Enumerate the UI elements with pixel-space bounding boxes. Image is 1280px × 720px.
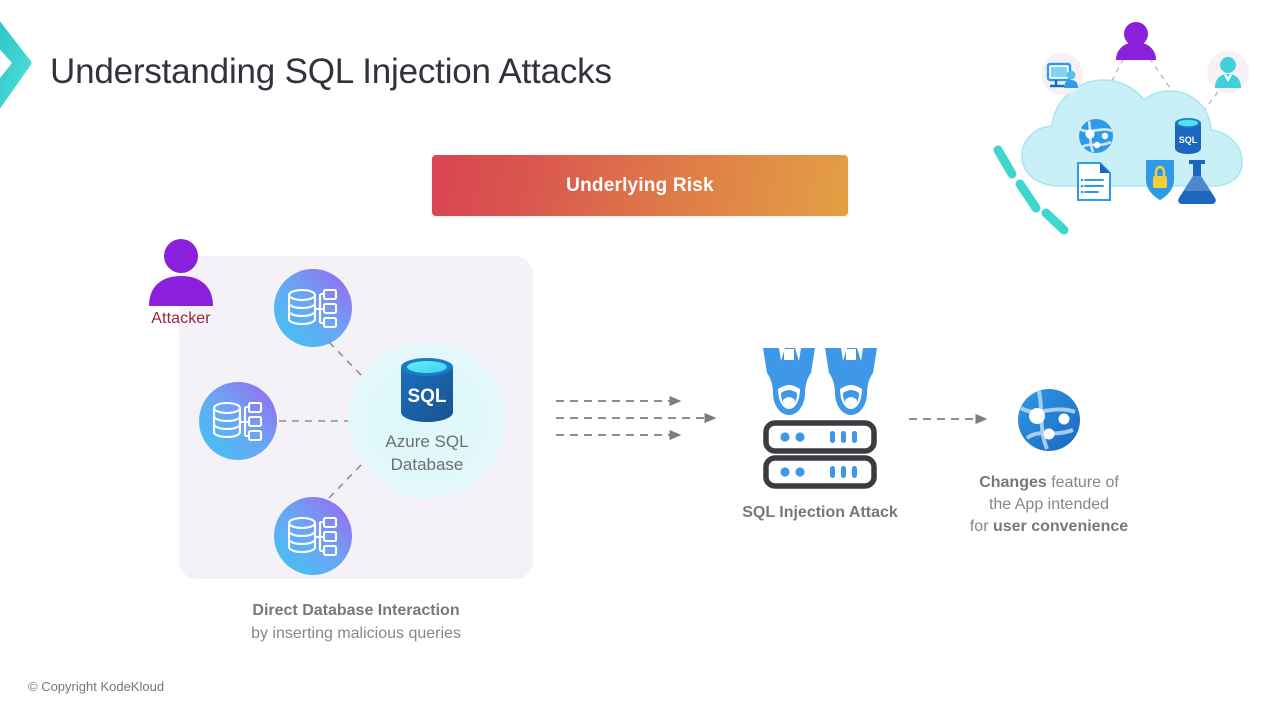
flow-arrow-to-app: [906, 405, 1002, 433]
panel-caption-sub: by inserting malicious queries: [180, 622, 532, 645]
svg-text:SQL: SQL: [407, 386, 446, 407]
person-purple-icon: [1116, 22, 1156, 60]
document-icon: [1078, 163, 1110, 200]
panel-caption: Direct Database Interaction by inserting…: [180, 599, 532, 645]
flow-arrows-to-attack: [552, 390, 732, 450]
sql-database-icon: SQL: [1175, 118, 1201, 154]
monitor-user-icon: [1041, 53, 1083, 95]
outcome-caption-bold-1: Changes: [979, 474, 1047, 491]
panel-caption-strong: Direct Database Interaction: [180, 599, 532, 622]
footer-copyright: © Copyright KodeKloud: [28, 679, 164, 694]
outcome-caption-line-2: the App intended: [989, 496, 1109, 513]
azure-sql-database-icon: SQL: [398, 357, 456, 423]
cloud-illustration: SQL: [986, 8, 1274, 238]
cloud-shape: [1022, 80, 1242, 186]
azure-sql-label-line2: Database: [391, 455, 464, 474]
chevron-right-deco-icon: [0, 2, 32, 124]
outcome-caption: Changes feature of the App intended for …: [939, 472, 1159, 538]
app-network-icon: [1079, 119, 1113, 153]
person-teal-icon: [1207, 51, 1249, 93]
underlying-risk-banner: Underlying Risk: [432, 155, 848, 216]
banner-label: Underlying Risk: [566, 175, 714, 197]
sql-injection-server-icon: [757, 345, 883, 490]
app-network-icon: [1017, 388, 1081, 452]
svg-text:SQL: SQL: [1179, 135, 1198, 145]
outcome-caption-rest-3: for: [970, 518, 993, 535]
azure-sql-label-line1: Azure SQL: [385, 432, 468, 451]
outcome-caption-rest-1: feature of: [1047, 474, 1119, 491]
outcome-caption-bold-3: user convenience: [993, 518, 1128, 535]
page-title: Understanding SQL Injection Attacks: [50, 52, 612, 92]
azure-sql-label: Azure SQL Database: [345, 430, 509, 476]
shield-lock-icon: [1146, 160, 1174, 200]
sql-injection-attack-label: SQL Injection Attack: [689, 504, 951, 522]
